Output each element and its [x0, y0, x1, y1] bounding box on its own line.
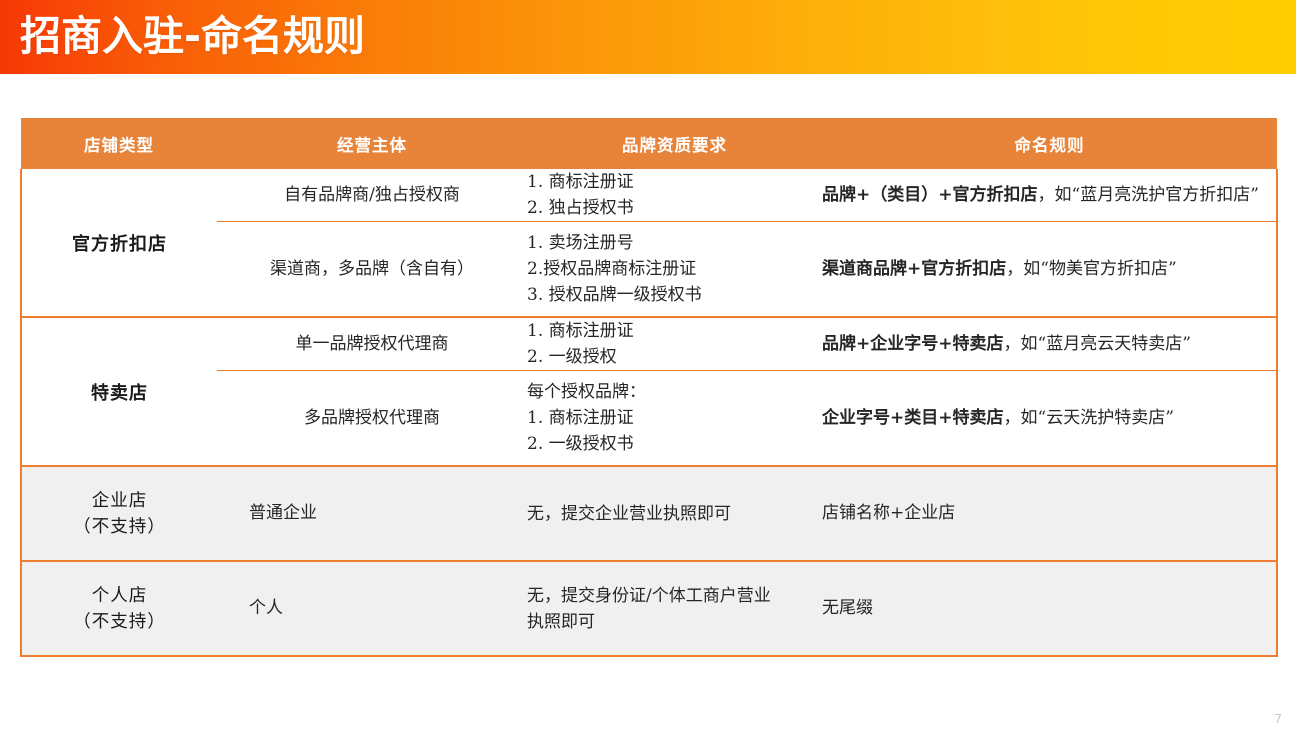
naming-rule-example: 无尾缀 — [822, 598, 873, 618]
cell-naming-rule: 渠道商品牌+官方折扣店，如“物美官方折扣店” — [822, 222, 1277, 318]
column-header-qualification: 品牌资质要求 — [527, 118, 822, 169]
column-header-entity: 经营主体 — [217, 118, 527, 169]
column-header-store-type: 店铺类型 — [21, 118, 217, 169]
cell-entity: 多品牌授权代理商 — [217, 371, 527, 467]
table-row: 个人店（不支持） 个人 无，提交身份证/个体工商户营业 执照即可 无尾缀 — [21, 561, 1277, 656]
qualification-line: 无，提交企业营业执照即可 — [527, 501, 822, 527]
cell-naming-rule: 无尾缀 — [822, 561, 1277, 656]
table-row: 官方折扣店 自有品牌商/独占授权商 1. 商标注册证 2. 独占授权书 品牌+（… — [21, 169, 1277, 222]
cell-qualification: 每个授权品牌： 1. 商标注册证 2. 一级授权书 — [527, 371, 822, 467]
naming-rule-example: ，如“物美官方折扣店” — [1006, 259, 1176, 279]
cell-entity: 个人 — [217, 561, 527, 656]
table-header-row: 店铺类型 经营主体 品牌资质要求 命名规则 — [21, 118, 1277, 169]
page-number: 7 — [1274, 712, 1282, 726]
naming-rules-table-container: 店铺类型 经营主体 品牌资质要求 命名规则 官方折扣店 自有品牌商/独占授权商 … — [20, 118, 1276, 714]
cell-entity: 渠道商，多品牌（含自有） — [217, 222, 527, 318]
qualification-line: 无，提交身份证/个体工商户营业 — [527, 583, 822, 609]
table-row: 特卖店 单一品牌授权代理商 1. 商标注册证 2. 一级授权 品牌+企业字号+特… — [21, 317, 1277, 371]
cell-naming-rule: 品牌+（类目）+官方折扣店，如“蓝月亮洗护官方折扣店” — [822, 169, 1277, 222]
naming-rule-pattern: 渠道商品牌+官方折扣店 — [822, 259, 1006, 279]
cell-store-type: 企业店（不支持） — [21, 466, 217, 561]
table-header: 店铺类型 经营主体 品牌资质要求 命名规则 — [21, 118, 1277, 169]
naming-rule-example: 店铺名称+企业店 — [822, 503, 955, 523]
table-row: 企业店（不支持） 普通企业 无，提交企业营业执照即可 店铺名称+企业店 — [21, 466, 1277, 561]
cell-store-type: 特卖店 — [21, 317, 217, 466]
cell-qualification: 1. 卖场注册号 2.授权品牌商标注册证 3. 授权品牌一级授权书 — [527, 222, 822, 318]
naming-rule-pattern: 品牌+（类目）+官方折扣店 — [822, 185, 1038, 205]
naming-rule-example: ，如“蓝月亮洗护官方折扣店” — [1038, 185, 1259, 205]
page-title: 招商入驻-命名规则 — [20, 6, 365, 66]
column-header-naming-rule: 命名规则 — [822, 118, 1277, 169]
cell-qualification: 无，提交企业营业执照即可 — [527, 466, 822, 561]
naming-rule-example: ，如“云天洗护特卖店” — [1004, 408, 1174, 428]
qualification-line: 2. 独占授权书 — [527, 195, 822, 221]
cell-qualification: 无，提交身份证/个体工商户营业 执照即可 — [527, 561, 822, 656]
cell-naming-rule: 店铺名称+企业店 — [822, 466, 1277, 561]
naming-rule-example: ，如“蓝月亮云天特卖店” — [1004, 334, 1191, 354]
qualification-line: 1. 商标注册证 — [527, 318, 822, 344]
qualification-line: 1. 商标注册证 — [527, 405, 822, 431]
cell-store-type: 官方折扣店 — [21, 169, 217, 317]
cell-store-type: 个人店（不支持） — [21, 561, 217, 656]
table-body: 官方折扣店 自有品牌商/独占授权商 1. 商标注册证 2. 独占授权书 品牌+（… — [21, 169, 1277, 656]
qualification-line: 1. 商标注册证 — [527, 169, 822, 195]
cell-naming-rule: 品牌+企业字号+特卖店，如“蓝月亮云天特卖店” — [822, 317, 1277, 371]
cell-naming-rule: 企业字号+类目+特卖店，如“云天洗护特卖店” — [822, 371, 1277, 467]
cell-entity: 单一品牌授权代理商 — [217, 317, 527, 371]
naming-rules-table: 店铺类型 经营主体 品牌资质要求 命名规则 官方折扣店 自有品牌商/独占授权商 … — [20, 118, 1278, 657]
qualification-line: 1. 卖场注册号 — [527, 230, 822, 256]
qualification-line: 每个授权品牌： — [527, 379, 822, 405]
naming-rule-pattern: 企业字号+类目+特卖店 — [822, 408, 1004, 428]
cell-entity: 自有品牌商/独占授权商 — [217, 169, 527, 222]
slide-banner: 招商入驻-命名规则 — [0, 0, 1296, 74]
qualification-line: 2. 一级授权书 — [527, 431, 822, 457]
naming-rule-pattern: 品牌+企业字号+特卖店 — [822, 334, 1004, 354]
qualification-line: 3. 授权品牌一级授权书 — [527, 282, 822, 308]
cell-qualification: 1. 商标注册证 2. 一级授权 — [527, 317, 822, 371]
qualification-line: 2. 一级授权 — [527, 344, 822, 370]
qualification-line: 执照即可 — [527, 609, 822, 635]
cell-qualification: 1. 商标注册证 2. 独占授权书 — [527, 169, 822, 222]
cell-entity: 普通企业 — [217, 466, 527, 561]
qualification-line: 2.授权品牌商标注册证 — [527, 256, 822, 282]
